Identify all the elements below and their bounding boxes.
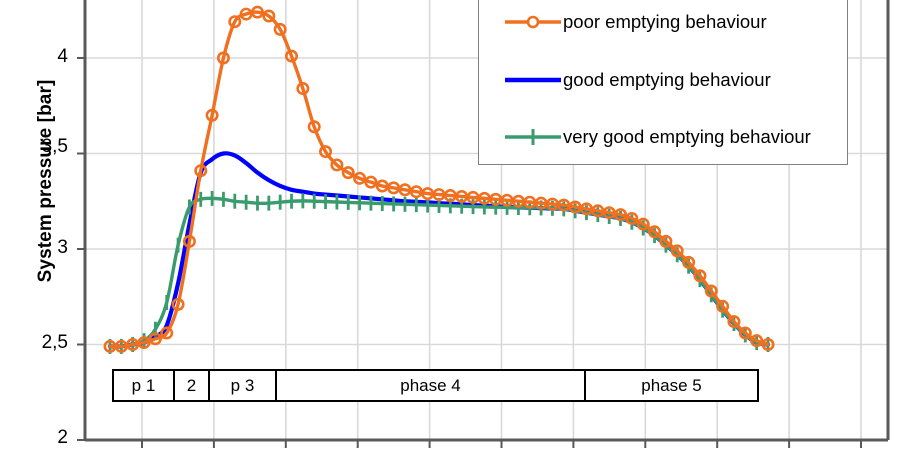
legend-swatch-very-good (505, 124, 561, 150)
legend-swatch-poor (505, 9, 561, 35)
y-tick-label-2: 2 (26, 427, 68, 449)
phase-cell-2: 2 (175, 371, 210, 400)
legend-entry-good[interactable]: good emptying behaviour (479, 65, 847, 95)
legend-label-good: good emptying behaviour (563, 69, 771, 91)
chart-root: System pressure [bar] 4 3,5 3 2,5 2 poor… (0, 0, 900, 450)
phase-cell-phase5: phase 5 (586, 371, 757, 400)
phase-label-phase5: phase 5 (641, 376, 702, 396)
series-very (110, 191, 768, 354)
legend-label-poor: poor emptying behaviour (563, 11, 767, 33)
phase-cell-p1: p 1 (114, 371, 175, 400)
y-axis-title: System pressure [bar] (35, 51, 57, 311)
legend-swatch-good (505, 67, 561, 93)
phase-bar: p 1 2 p 3 phase 4 phase 5 (112, 369, 759, 402)
phase-cell-p3: p 3 (210, 371, 277, 400)
y-tick-label-3: 3 (26, 237, 68, 259)
phase-cell-phase4: phase 4 (277, 371, 586, 400)
legend-entry-very-good[interactable]: very good emptying behaviour (479, 122, 847, 152)
y-tick-label-2-5: 2,5 (14, 332, 68, 354)
legend-label-very-good: very good emptying behaviour (563, 126, 811, 148)
phase-label-2: 2 (187, 376, 196, 396)
phase-label-phase4: phase 4 (400, 376, 461, 396)
y-tick-label-3-5: 3,5 (14, 136, 68, 158)
phase-label-p3: p 3 (231, 376, 255, 396)
phase-label-p1: p 1 (132, 376, 156, 396)
legend-entry-poor[interactable]: poor emptying behaviour (479, 7, 847, 37)
legend: poor emptying behaviour good emptying be… (478, 0, 848, 165)
y-tick-label-4: 4 (26, 46, 68, 68)
